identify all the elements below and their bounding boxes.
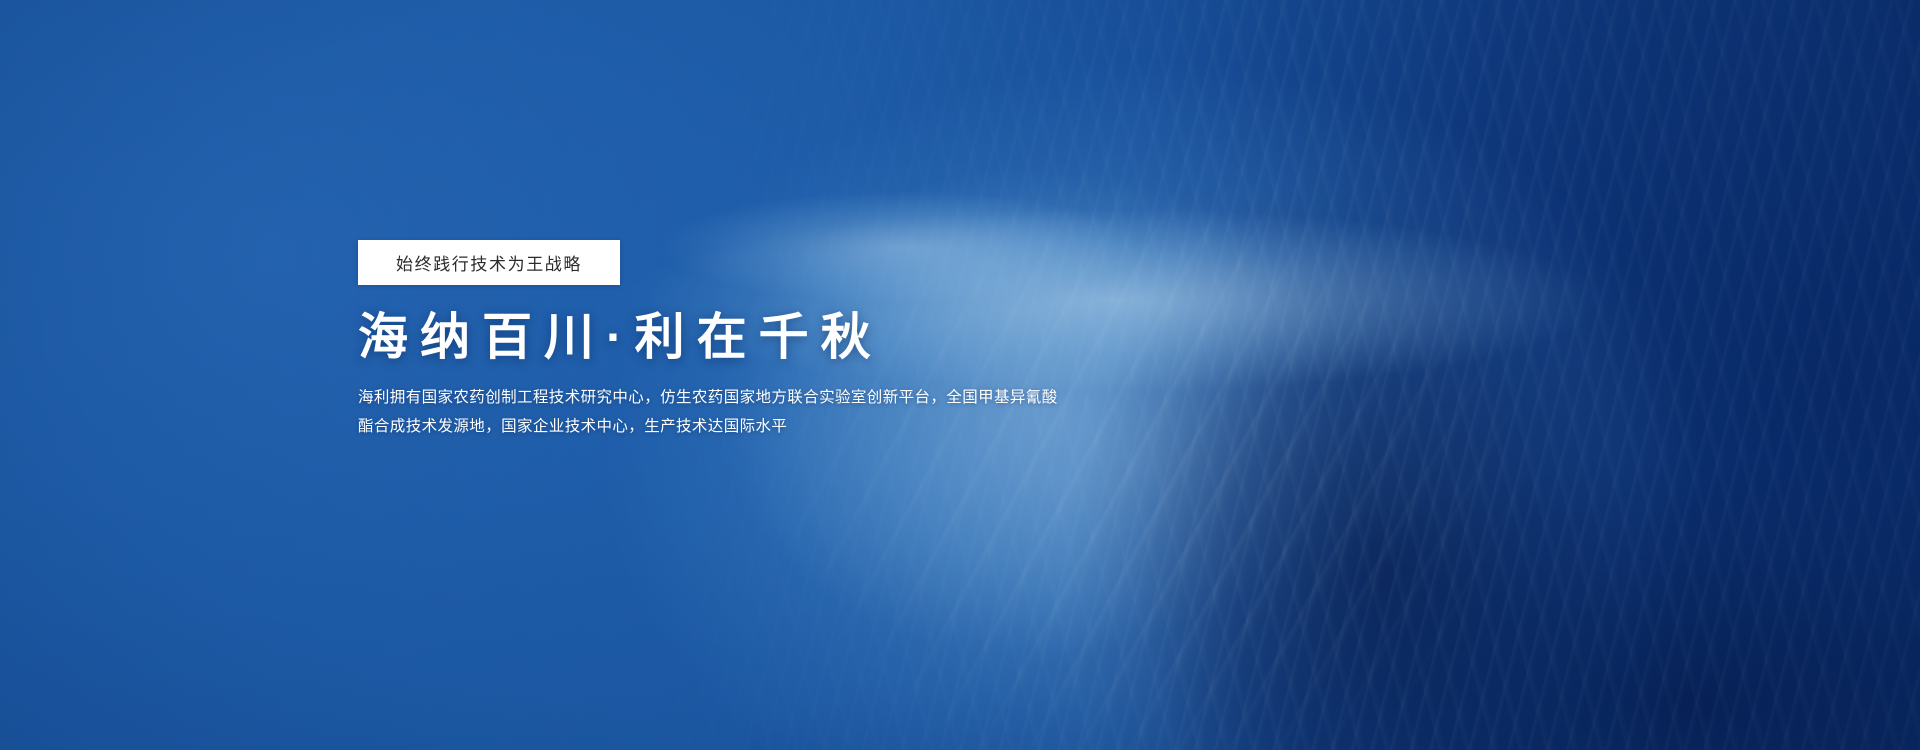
hero-description: 海利拥有国家农药创制工程技术研究中心，仿生农药国家地方联合实验室创新平台，全国甲…: [358, 383, 1030, 441]
hero-eyebrow-badge: 始终践行技术为王战略: [358, 240, 620, 285]
hero-description-line-1: 海利拥有国家农药创制工程技术研究中心，仿生农药国家地方联合实验室创新平台，全国甲…: [358, 383, 1030, 412]
hero-content: 始终践行技术为王战略 海纳百川·利在千秋 海利拥有国家农药创制工程技术研究中心，…: [358, 240, 1078, 441]
hero-headline: 海纳百川·利在千秋: [358, 311, 1078, 363]
hero-banner: 始终践行技术为王战略 海纳百川·利在千秋 海利拥有国家农药创制工程技术研究中心，…: [0, 0, 1920, 750]
hero-description-line-2: 酯合成技术发源地，国家企业技术中心，生产技术达国际水平: [358, 412, 1030, 441]
